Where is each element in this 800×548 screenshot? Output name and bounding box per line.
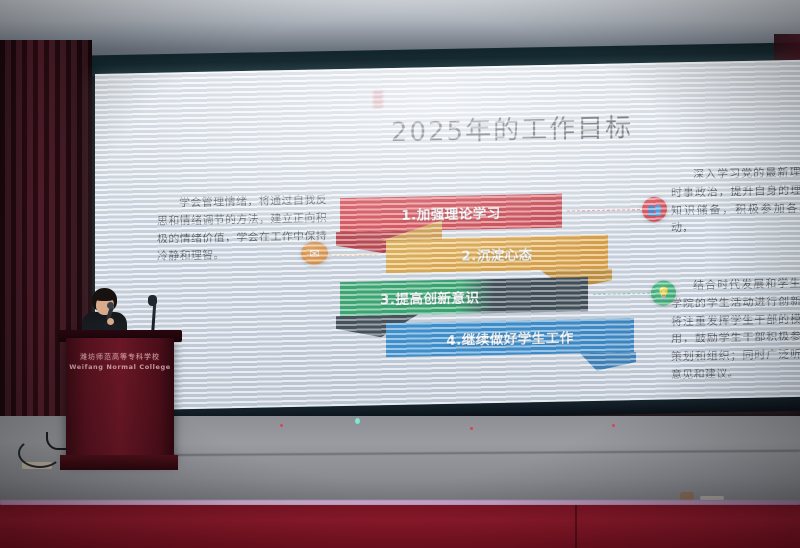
connector-line-green <box>593 293 655 295</box>
people-icon: 👥 <box>642 197 667 223</box>
floor-reflection-red <box>612 424 615 427</box>
ribbon-4-label: 4.继续做好学生工作 <box>446 326 574 349</box>
stage-apron <box>0 505 800 548</box>
stand-microphone <box>148 295 157 306</box>
paragraph-right-top-text: 深入学习党的最新理论成果和时事政治，提升自身的理论素养和知识储备，积极参加各种培… <box>671 163 800 238</box>
speaker-fringe <box>93 292 116 301</box>
ribbon-item-3: 3.提高创新意识 <box>340 277 588 316</box>
ribbon-4-tail <box>580 352 636 371</box>
ribbon-3-label: 3.提高创新意识 <box>380 286 480 308</box>
envelope-icon-glyph: ✉ <box>309 246 319 260</box>
floor-reflection-red <box>470 427 473 430</box>
stage-apron-seam <box>575 505 577 548</box>
ribbon-2-label: 2.沉淀心态 <box>461 243 533 264</box>
people-icon-glyph: 👥 <box>647 202 662 216</box>
slide-title: 2025年的工作目标 <box>347 106 677 150</box>
microphone-head <box>107 302 114 309</box>
photo-scene: 2025年的工作目标 学会管理情绪，将通过自我反思和情绪调节的方法，建立正向积极… <box>0 0 800 548</box>
floor-reflection-teal <box>355 418 360 424</box>
speaker-hand <box>107 318 114 325</box>
podium-chinese-text: 潍坊师范高等专科学校 <box>66 352 174 362</box>
floor-reflection-red <box>280 424 283 427</box>
presentation-slide: 2025年的工作目标 学会管理情绪，将通过自我反思和情绪调节的方法，建立正向积极… <box>95 60 800 419</box>
projection-screen: 2025年的工作目标 学会管理情绪，将通过自我反思和情绪调节的方法，建立正向积极… <box>95 60 800 419</box>
ribbon-1-label: 1.加强理论学习 <box>401 202 501 224</box>
connector-line-orange <box>329 254 377 256</box>
ribbon-item-2: 2.沉淀心态 <box>386 235 608 273</box>
idea-head-icon-glyph: 💡 <box>656 286 671 300</box>
ribbon-item-1: 1.加强理论学习 <box>340 194 562 232</box>
paragraph-right-bottom-text: 结合时代发展和学生需求，对学院的学生活动进行创新和改进。将注重发挥学生干部的模范… <box>671 274 800 384</box>
ribbon-item-4: 4.继续做好学生工作 <box>386 318 634 357</box>
podium-base <box>60 455 178 470</box>
connector-line-red <box>567 209 645 212</box>
title-decoration <box>373 90 383 108</box>
podium-english-text: Weifang Normal College <box>66 363 174 371</box>
paragraph-right-bottom: 结合时代发展和学生需求，对学院的学生活动进行创新和改进。将注重发挥学生干部的模范… <box>671 274 800 384</box>
paragraph-right-top: 深入学习党的最新理论成果和时事政治，提升自身的理论素养和知识储备，积极参加各种培… <box>671 163 800 238</box>
